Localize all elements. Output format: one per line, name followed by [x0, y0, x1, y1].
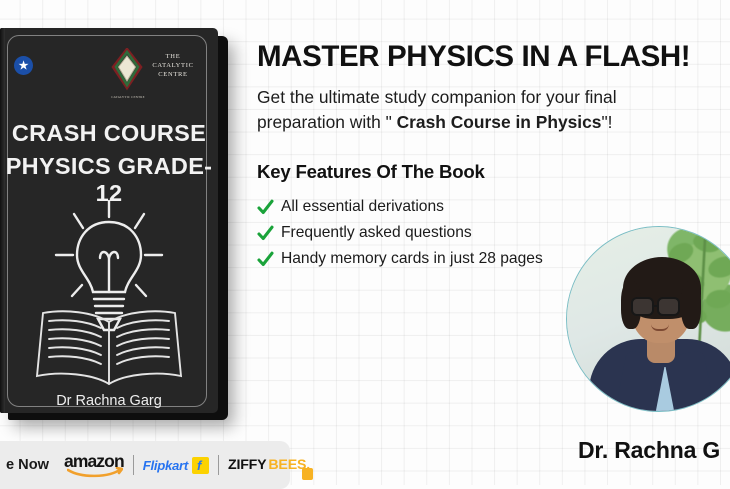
feature-label: Frequently asked questions [281, 221, 472, 245]
flipkart-wordmark: Flipkart [143, 458, 188, 473]
catalytic-centre-logo: THE CATALYTIC CENTRE CATALYTIC CENTRE [108, 46, 204, 108]
feature-label: All essential derivations [281, 195, 444, 219]
list-item: All essential derivations [257, 195, 727, 219]
portrait-hair-right [681, 281, 701, 329]
retailer-availability-bar: e Now amazon Flipkart f ZIFFY BEES. [0, 441, 290, 489]
logo-text-block: THE CATALYTIC CENTRE [146, 52, 200, 79]
logo-subtext: CATALYTIC CENTRE [108, 95, 148, 100]
feature-label: Handy memory cards in just 28 pages [281, 247, 543, 271]
glasses-bridge-icon [654, 305, 659, 307]
cover-title-line-1: CRASH COURSE [0, 120, 218, 147]
ziffybees-logo[interactable]: ZIFFY BEES. [228, 457, 310, 473]
cover-title-line-2: PHYSICS GRADE-12 [0, 153, 218, 207]
flipkart-logo[interactable]: Flipkart f [143, 457, 209, 474]
logo-line-3: CENTRE [146, 70, 200, 79]
check-icon [257, 251, 274, 268]
amazon-logo[interactable]: amazon [64, 453, 124, 477]
glasses-lens-right-icon [657, 297, 680, 316]
features-heading: Key Features Of The Book [257, 161, 727, 183]
glasses-lens-left-icon [631, 297, 654, 316]
avatar [566, 226, 730, 412]
subheadline-emphasis: Crash Course in Physics [397, 112, 602, 132]
ziffybees-mark-icon [302, 468, 313, 480]
book-cover-image: ★ THE CATALYTIC CENTRE CATALYTIC CENTRE … [0, 28, 228, 420]
open-book-icon [33, 304, 185, 390]
check-icon [257, 199, 274, 216]
divider [218, 455, 219, 475]
logo-line-1: THE [146, 52, 200, 61]
book-spine [0, 28, 5, 413]
doctor-name-label: Dr. Rachna G [578, 437, 720, 464]
amazon-swoosh-icon [67, 467, 123, 478]
divider [133, 455, 134, 475]
page-title: MASTER PHYSICS IN A FLASH! [257, 40, 727, 74]
flipkart-bag-letter: f [197, 458, 201, 473]
subheadline-part2: "! [601, 112, 612, 132]
diamond-logo-icon [110, 48, 144, 94]
flipkart-bag-icon: f [192, 457, 209, 474]
available-now-label: e Now [6, 457, 49, 473]
cover-author-name: Dr Rachna Garg [0, 393, 218, 409]
book-front-cover: ★ THE CATALYTIC CENTRE CATALYTIC CENTRE … [0, 28, 218, 413]
subheadline: Get the ultimate study companion for you… [257, 85, 709, 135]
logo-line-2: CATALYTIC [146, 61, 200, 70]
ziffy-wordmark-primary: ZIFFY [228, 457, 266, 473]
certified-badge-icon: ★ [14, 56, 33, 75]
check-icon [257, 225, 274, 242]
